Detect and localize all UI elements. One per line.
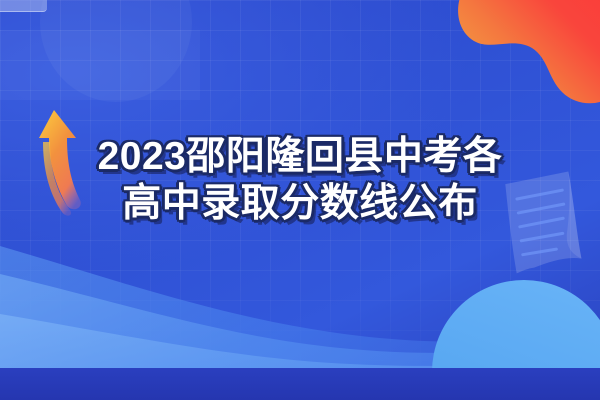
page-title: 2023邵阳隆回县中考各高中录取分数线公布	[78, 133, 522, 227]
bottom-strip	[0, 368, 600, 400]
decorative-band-top-left	[0, 30, 200, 100]
article-banner-image: 2023邵阳隆回县中考各高中录取分数线公布	[0, 0, 600, 400]
top-left-pill	[0, 0, 47, 12]
